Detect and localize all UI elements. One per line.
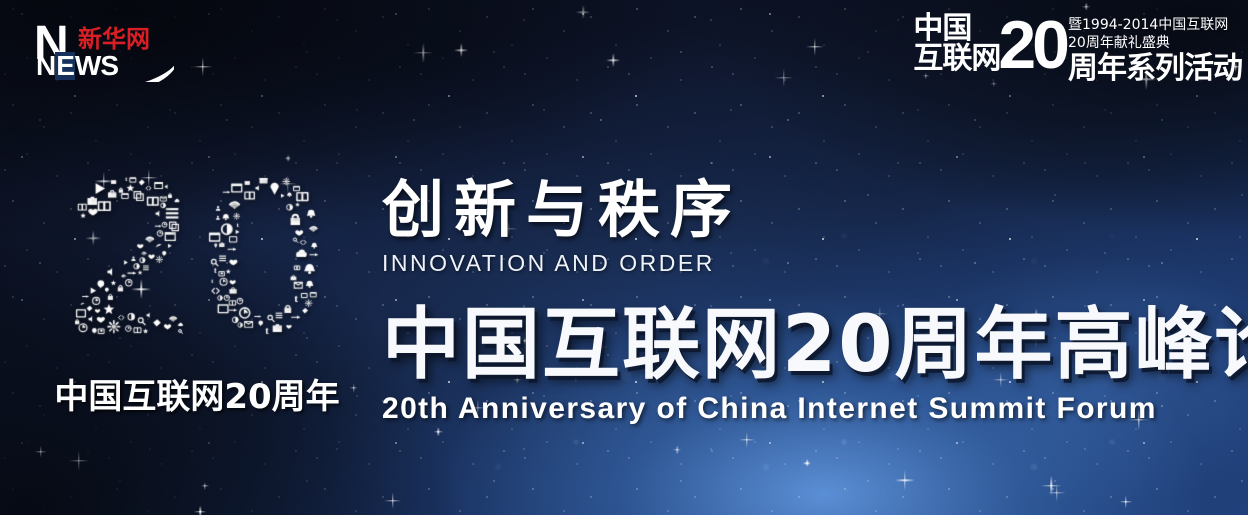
sparkle-star-icon [384, 492, 402, 510]
sparkle-star-icon [774, 68, 793, 87]
lockup-small-line-1: 暨1994-2014中国互联网 [1068, 16, 1242, 34]
sparkle-star-icon [413, 43, 433, 63]
sparkle-star-icon [895, 470, 915, 490]
sparkle-star-icon [606, 53, 620, 67]
news-letter-e: E [55, 52, 75, 80]
sparkle-star-icon [194, 505, 207, 515]
anniversary-lockup-details: 暨1994-2014中国互联网 20周年献礼盛典 周年系列活动 [1068, 16, 1242, 85]
sparkle-star-icon [201, 482, 209, 490]
lockup-line-1: 中国 [913, 14, 1000, 44]
sparkle-star-icon [193, 57, 213, 77]
xinhua-logo-news-wordmark: NEWS [36, 52, 118, 80]
icon-mosaic-canvas [22, 160, 372, 375]
forum-title-english: 20th Anniversary of China Internet Summi… [382, 392, 1212, 426]
sparkle-star-icon [34, 445, 47, 458]
sparkle-star-icon [1041, 475, 1062, 496]
sparkle-star-icon [69, 451, 89, 471]
slogan-chinese: 创新与秩序 [382, 178, 1212, 242]
lockup-small-line-2: 20周年献礼盛典 [1068, 34, 1242, 52]
slogan-english: INNOVATION AND ORDER [382, 250, 1212, 276]
headline-block: 创新与秩序 INNOVATION AND ORDER 中国互联网20周年高峰论坛… [382, 178, 1212, 426]
lockup-number-20: 20 [998, 14, 1066, 76]
news-letter-n: N [36, 52, 55, 80]
sparkle-star-icon [806, 38, 824, 56]
lockup-line-2: 互联网 [913, 44, 1000, 74]
sparkle-star-icon [434, 427, 443, 436]
sparkle-star-icon [803, 459, 811, 467]
xinhua-logo-chinese-name: 新华网 [78, 26, 150, 52]
anniversary-lockup-chinese: 中国 互联网 [913, 14, 1000, 74]
sparkle-star-icon [576, 5, 590, 19]
icon-mosaic-20-logo: 中国互联网20周年 [22, 160, 372, 425]
sparkle-star-icon [1119, 495, 1132, 508]
sparkle-star-icon [738, 432, 754, 448]
mosaic-logo-caption: 中国互联网20周年 [22, 378, 372, 416]
sparkle-star-icon [1082, 2, 1091, 11]
event-banner: N NEWS 新华网 中国 互联网 20 暨1994-2014中国互联网 20周… [0, 0, 1248, 515]
lockup-big-line: 周年系列活动 [1068, 53, 1242, 85]
swoosh-icon [110, 56, 174, 82]
sparkle-star-icon [673, 445, 682, 454]
sparkle-star-icon [455, 43, 469, 57]
anniversary-lockup: 中国 互联网 20 暨1994-2014中国互联网 20周年献礼盛典 周年系列活… [913, 14, 1242, 85]
xinhua-news-logo[interactable]: N NEWS 新华网 [34, 22, 166, 84]
sparkle-star-icon [1048, 484, 1066, 502]
forum-title-chinese: 中国互联网20周年高峰论坛 [382, 304, 1212, 386]
